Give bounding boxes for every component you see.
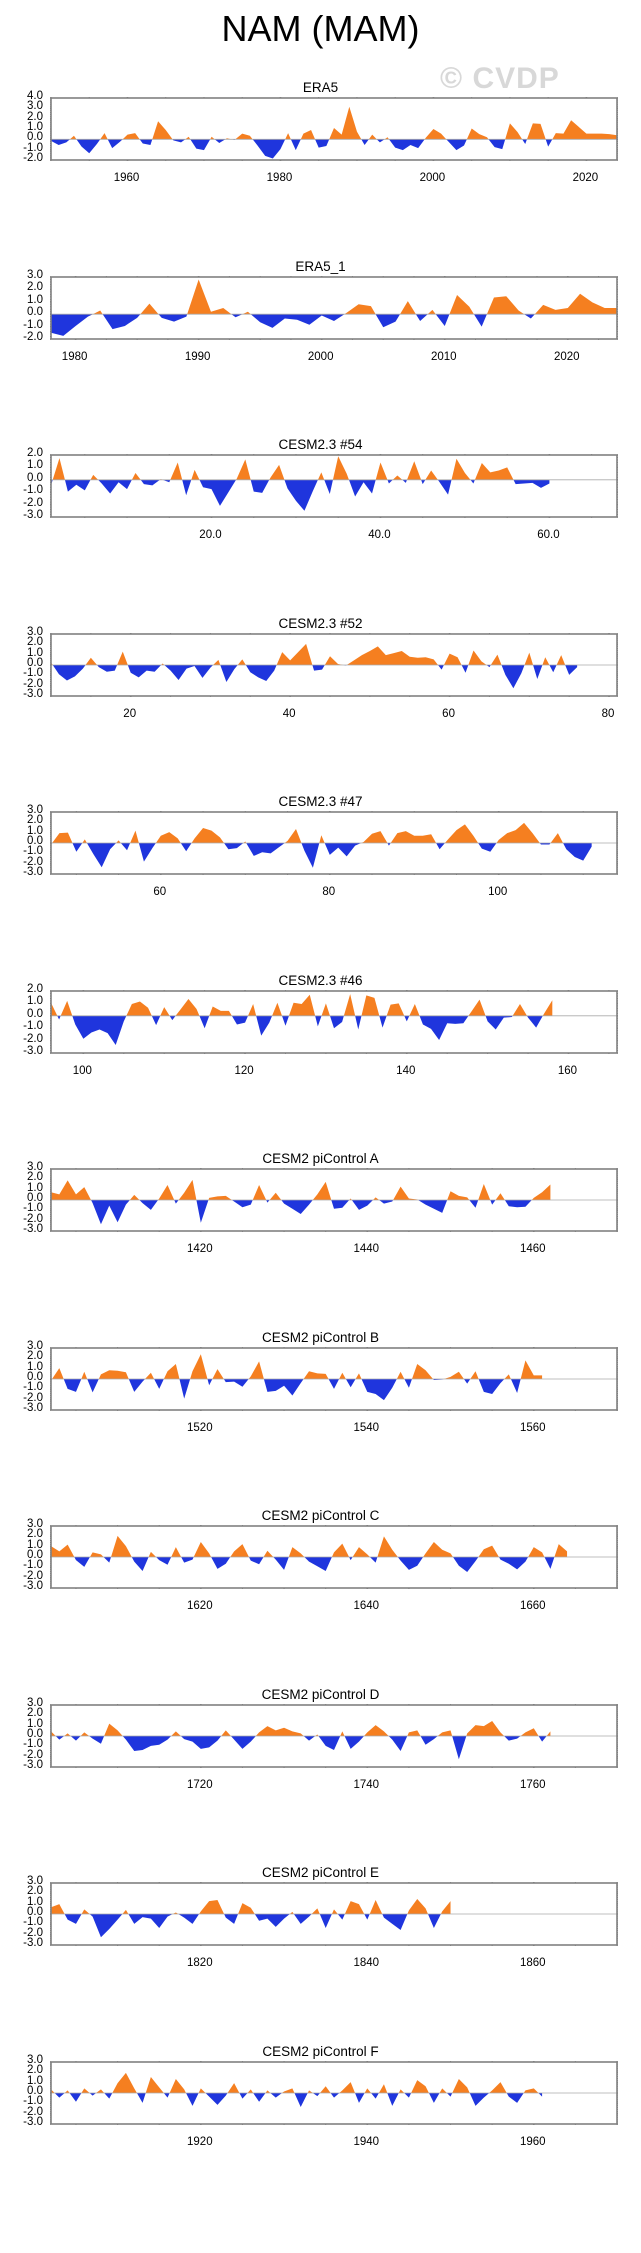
negative-anomaly-area (51, 2093, 542, 2107)
y-axis-tick-label: -2.0 (0, 153, 43, 165)
negative-anomaly-area (51, 1016, 552, 1045)
positive-anomaly-area (51, 1536, 567, 1557)
plot-area (50, 1525, 618, 1589)
y-axis-tick-label: -2.0 (0, 498, 43, 510)
x-axis-tick-label: 1820 (160, 1958, 240, 1970)
x-axis-tick-label: 60.0 (508, 530, 588, 542)
x-axis-tick-label: 2000 (392, 173, 472, 185)
y-axis-tick-label: -2.0 (0, 1034, 43, 1046)
y-axis-tick-label: 0.0 (0, 1009, 43, 1021)
x-axis-tick-label: 1560 (493, 1423, 573, 1435)
y-axis-tick-label: -3.0 (0, 510, 43, 522)
negative-anomaly-area (51, 1200, 550, 1224)
y-axis-tick-label: -3.0 (0, 1224, 43, 1236)
x-axis-tick-label: 1460 (493, 1244, 573, 1256)
y-axis-tick-label: 2.0 (0, 282, 43, 294)
plot-area (50, 990, 618, 1054)
y-axis-tick-label: -3.0 (0, 1403, 43, 1415)
x-axis-tick-label: 1660 (493, 1601, 573, 1613)
panel-title: CESM2 piControl D (0, 1687, 641, 1702)
y-axis-tick-label: -3.0 (0, 1938, 43, 1950)
positive-anomaly-area (51, 107, 617, 140)
y-axis-tick-label: 0.0 (0, 473, 43, 485)
panel-title: ERA5_1 (0, 259, 641, 274)
plot-area (50, 276, 618, 340)
panel-title: ERA5 (0, 80, 641, 95)
plot-area (50, 811, 618, 875)
x-axis-tick-label: 2000 (281, 352, 361, 364)
positive-anomaly-area (51, 2073, 542, 2093)
negative-anomaly-area (51, 139, 617, 158)
x-axis-tick-label: 100 (458, 887, 538, 899)
positive-anomaly-area (51, 823, 592, 843)
x-axis-tick-label: 1980 (239, 173, 319, 185)
x-axis-tick-label: 60 (120, 887, 200, 899)
panel-title: CESM2 piControl A (0, 1151, 641, 1166)
x-axis-tick-label: 1760 (493, 1780, 573, 1792)
negative-anomaly-area (51, 314, 617, 336)
negative-anomaly-area (51, 665, 577, 688)
x-axis-tick-label: 1940 (326, 2137, 406, 2149)
x-axis-tick-label: 20.0 (171, 530, 251, 542)
plot-area (50, 633, 618, 697)
panel-title: CESM2.3 #54 (0, 437, 641, 452)
y-axis-tick-label: 2.0 (0, 448, 43, 460)
x-axis-tick-label: 60 (409, 709, 489, 721)
y-axis-tick-label: -3.0 (0, 1046, 43, 1058)
x-axis-tick-label: 1960 (493, 2137, 573, 2149)
x-axis-tick-label: 2010 (404, 352, 484, 364)
negative-anomaly-area (51, 1379, 542, 1400)
x-axis-tick-label: 1440 (326, 1244, 406, 1256)
y-axis-tick-label: 1.0 (0, 460, 43, 472)
x-axis-tick-label: 1980 (35, 352, 115, 364)
plot-area (50, 2061, 618, 2125)
y-axis-tick-label: -3.0 (0, 689, 43, 701)
x-axis-tick-label: 80 (568, 709, 641, 721)
positive-anomaly-area (51, 279, 617, 314)
x-axis-tick-label: 80 (289, 887, 369, 899)
negative-anomaly-area (51, 843, 592, 868)
positive-anomaly-area (51, 456, 549, 480)
positive-anomaly-area (51, 994, 552, 1016)
x-axis-tick-label: 1540 (326, 1423, 406, 1435)
y-axis-tick-label: 0.0 (0, 307, 43, 319)
positive-anomaly-area (51, 1899, 451, 1914)
plot-area (50, 1704, 618, 1768)
y-axis-tick-label: -3.0 (0, 1581, 43, 1593)
x-axis-tick-label: 120 (204, 1066, 284, 1078)
positive-anomaly-area (51, 644, 577, 665)
panel-title: CESM2 piControl B (0, 1330, 641, 1345)
x-axis-tick-label: 1860 (493, 1958, 573, 1970)
negative-anomaly-area (51, 480, 549, 511)
positive-anomaly-area (51, 1354, 542, 1379)
figure-title: NAM (MAM) (0, 8, 641, 50)
panel-title: CESM2 piControl C (0, 1508, 641, 1523)
x-axis-tick-label: 1840 (326, 1958, 406, 1970)
x-axis-tick-label: 1920 (160, 2137, 240, 2149)
x-axis-tick-label: 1620 (160, 1601, 240, 1613)
plot-area (50, 97, 618, 161)
y-axis-tick-label: 1.0 (0, 996, 43, 1008)
panel-title: CESM2 piControl E (0, 1865, 641, 1880)
y-axis-tick-label: -3.0 (0, 1760, 43, 1772)
x-axis-tick-label: 1420 (160, 1244, 240, 1256)
x-axis-tick-label: 160 (527, 1066, 607, 1078)
panel-title: CESM2.3 #46 (0, 973, 641, 988)
positive-anomaly-area (51, 1180, 550, 1200)
y-axis-tick-label: -1.0 (0, 1021, 43, 1033)
x-axis-tick-label: 2020 (545, 173, 625, 185)
y-axis-tick-label: -2.0 (0, 332, 43, 344)
x-axis-tick-label: 1990 (158, 352, 238, 364)
x-axis-tick-label: 100 (42, 1066, 122, 1078)
x-axis-tick-label: 1640 (326, 1601, 406, 1613)
plot-area (50, 1347, 618, 1411)
x-axis-tick-label: 1740 (326, 1780, 406, 1792)
x-axis-tick-label: 40.0 (339, 530, 419, 542)
panel-title: CESM2.3 #52 (0, 616, 641, 631)
plot-area (50, 1882, 618, 1946)
plot-frame (51, 277, 617, 339)
y-axis-tick-label: -3.0 (0, 867, 43, 879)
plot-frame (51, 455, 617, 517)
x-axis-tick-label: 20 (90, 709, 170, 721)
figure-canvas: NAM (MAM) © CVDP ERA54.03.02.01.00.0-1.0… (0, 0, 641, 2253)
plot-area (50, 1168, 618, 1232)
y-axis-tick-label: -1.0 (0, 320, 43, 332)
y-axis-tick-label: -3.0 (0, 2117, 43, 2129)
negative-anomaly-area (51, 1557, 567, 1572)
panel-title: CESM2 piControl F (0, 2044, 641, 2059)
x-axis-tick-label: 1520 (160, 1423, 240, 1435)
plot-area (50, 454, 618, 518)
panel-title: CESM2.3 #47 (0, 794, 641, 809)
negative-anomaly-area (51, 1914, 451, 1937)
x-axis-tick-label: 2020 (527, 352, 607, 364)
negative-anomaly-area (51, 1736, 550, 1759)
x-axis-tick-label: 40 (249, 709, 329, 721)
x-axis-tick-label: 140 (366, 1066, 446, 1078)
positive-anomaly-area (51, 1721, 550, 1736)
x-axis-tick-label: 1960 (86, 173, 166, 185)
y-axis-tick-label: 3.0 (0, 270, 43, 282)
y-axis-tick-label: 2.0 (0, 984, 43, 996)
y-axis-tick-label: -1.0 (0, 485, 43, 497)
y-axis-tick-label: 1.0 (0, 295, 43, 307)
x-axis-tick-label: 1720 (160, 1780, 240, 1792)
